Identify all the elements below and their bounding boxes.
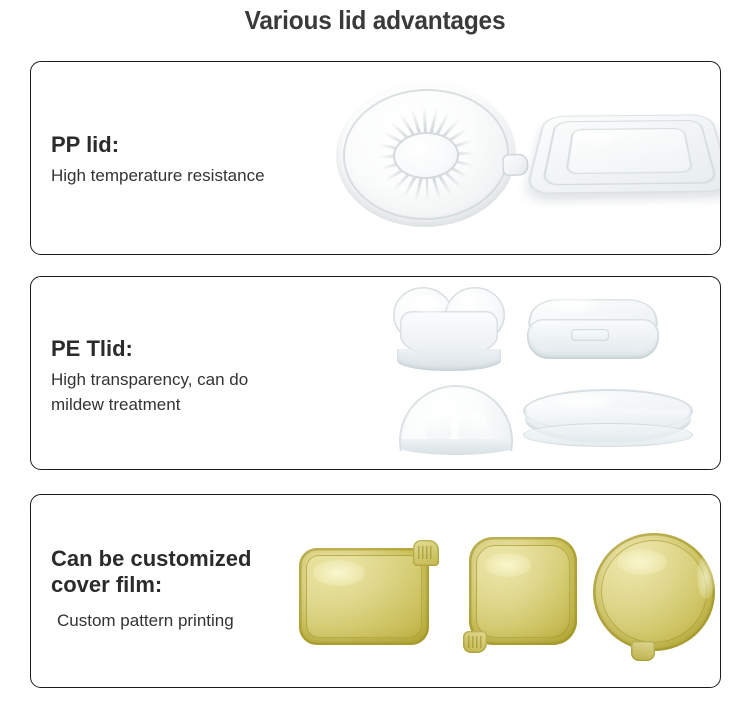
gold-round-foil-lid-image <box>593 533 721 661</box>
heart-shaped-pet-dome-lid-image <box>393 287 505 369</box>
pp-lid-description: High temperature resistance <box>51 163 265 189</box>
card-pp-lid: PP lid: High temperature resistance <box>30 61 721 255</box>
foil-pull-tab <box>631 641 655 661</box>
lid-skirt <box>397 349 501 371</box>
foil-pull-tab <box>463 631 487 653</box>
cover-film-text-block: Can be customized cover film: Custom pat… <box>51 546 251 633</box>
lid-highlight <box>553 395 613 409</box>
pp-lid-heading: PP lid: <box>51 132 265 158</box>
foil-highlight <box>313 560 365 586</box>
foil-pull-tab <box>413 540 439 566</box>
flat-oval-pet-lid-image <box>523 389 693 451</box>
page-title: Various lid advantages <box>23 5 728 36</box>
rectangular-pp-lid-image <box>525 114 721 194</box>
pe-lid-heading: PE Tlid: <box>51 336 248 362</box>
pe-lid-text-block: PE Tlid: High transparency, can do milde… <box>51 336 248 418</box>
foil-highlight <box>485 553 531 577</box>
infographic-page: Various lid advantages PP lid: High temp… <box>0 0 750 711</box>
gold-square-foil-lid-image <box>463 537 581 655</box>
lid-lip <box>523 423 693 447</box>
pp-lid-text-block: PP lid: High temperature resistance <box>51 132 265 188</box>
cover-film-heading: Can be customized cover film: <box>51 546 251 598</box>
foil-highlight <box>617 549 667 575</box>
foil-edge-highlight <box>697 555 715 599</box>
lid-notch <box>571 329 609 341</box>
lid-highlight <box>547 297 599 313</box>
cover-film-description: Custom pattern printing <box>51 608 251 634</box>
round-ribbed-pp-lid-image <box>334 79 519 230</box>
gold-rectangular-foil-lid-image <box>299 540 439 645</box>
round-dome-pet-lid-image <box>399 385 513 455</box>
pe-lid-description: High transparency, can do mildew treatme… <box>51 367 248 418</box>
lid-highlight <box>409 295 449 313</box>
dome-base-rim <box>401 439 511 455</box>
lid-pull-tab <box>502 154 529 177</box>
card-cover-film: Can be customized cover film: Custom pat… <box>30 494 721 688</box>
card-pe-lid: PE Tlid: High transparency, can do milde… <box>30 276 721 470</box>
square-pet-lid-image <box>523 289 663 369</box>
